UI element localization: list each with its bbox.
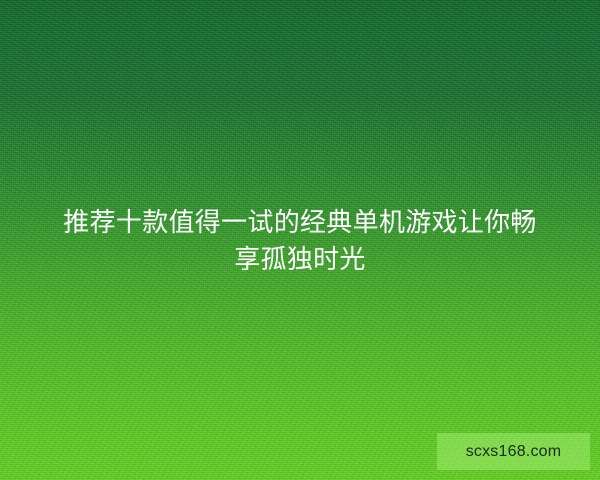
watermark-text: scxs168.com: [466, 444, 562, 460]
watermark-badge: scxs168.com: [437, 433, 590, 470]
title-block: 推荐十款值得一试的经典单机游戏让你畅 享孤独时光: [0, 204, 600, 278]
title-line-1: 推荐十款值得一试的经典单机游戏让你畅: [22, 204, 578, 241]
title-line-2: 享孤独时光: [22, 241, 578, 278]
image-canvas: 推荐十款值得一试的经典单机游戏让你畅 享孤独时光 scxs168.com: [0, 0, 600, 480]
